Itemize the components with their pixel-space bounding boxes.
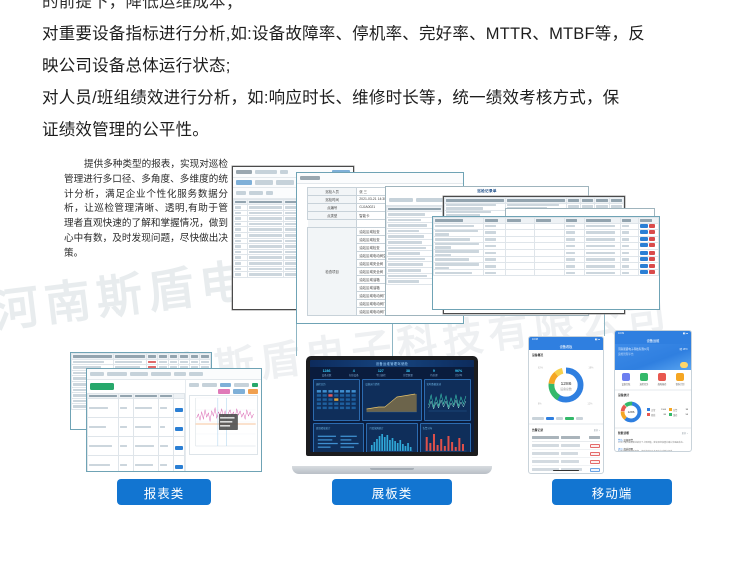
detail-sheet-title xyxy=(506,209,654,216)
card-calendar[interactable]: 巡检日历 xyxy=(313,379,360,421)
kpi-1: 4在线设备 xyxy=(349,369,359,377)
table-row xyxy=(434,249,659,256)
kpi-2: 127今日巡检 xyxy=(376,369,386,377)
kpi-0: 1286设备总数 xyxy=(322,369,332,377)
status-badge xyxy=(590,460,600,464)
dashboard-row-2: 班组绩效统计 月度故障统计 xyxy=(310,423,474,452)
phone1-nav-title: 设备看板 xyxy=(560,344,573,349)
laptop-trackpad-notch xyxy=(370,468,414,471)
phone2-diagnosis-section: 智能诊断 更多 > 警告 设备预警 1#压力变送器读数持续高于上限阈值，建议现场… xyxy=(615,429,691,452)
table-row xyxy=(88,456,185,472)
print-sheet-title: 巡检记录单 xyxy=(386,187,588,195)
diagnosis-item-1[interactable]: 提示 保养提醒 3#电动阀已达保养周期，请安排班组在本周内完成例行保养。 xyxy=(618,447,688,452)
phone1-overview-section: 设备概况 1286 设备总数 62%18% 8%12% xyxy=(529,350,603,423)
phone2-hero-banner: 河南斯盾电子科技有限公司 运维管理平台 晴 18℃ xyxy=(615,344,691,370)
table-row xyxy=(434,242,659,249)
field-key-3: 点类型 xyxy=(308,211,357,219)
phone2-legend-grid: 正常1106 告警38 离线84 维修58 xyxy=(647,408,688,417)
quick-action-repair[interactable]: 故障报修 xyxy=(658,373,667,386)
cta-button-report[interactable]: 报表类 xyxy=(117,479,211,505)
bar-chart xyxy=(369,431,414,452)
laptop-base xyxy=(292,466,492,474)
mobile-screen-board[interactable]: 10:08 ▮▮ ▰ 设备看板 设备概况 1286 设备总数 62%18% 8%… xyxy=(528,336,604,474)
table-row xyxy=(434,229,659,236)
kpi-5: 96%完好率 xyxy=(455,369,462,377)
sheet-toolbar xyxy=(297,173,463,184)
table-row xyxy=(88,399,185,418)
body-copy: 的前提下，降低运维成本； 对重要设备指标进行分析,如:设备故障率、停机率、完好率… xyxy=(42,0,732,146)
table-row xyxy=(88,437,185,456)
phone2-hero-title: 河南斯盾电子科技有限公司 xyxy=(618,347,688,351)
phone2-nav-bar: 设备运维 xyxy=(615,336,691,344)
copy-line-3: 对人员/班组绩效进行分析，如:响应时长、维修时长等，统一绩效考核方式，保 xyxy=(42,82,732,114)
copy-line-2: 映公司设备总体运行状态; xyxy=(42,50,732,82)
phone1-list-header xyxy=(532,434,600,442)
phone2-nav-title: 设备运维 xyxy=(647,338,660,343)
dashboard-title: 设备运维管理驾驶舱 xyxy=(376,361,408,366)
phone2-signal-icons: ▮▮ ▰ xyxy=(683,332,688,335)
phone2-hero-sub: 运维管理平台 xyxy=(618,352,688,356)
card-team-perf[interactable]: 班组绩效统计 xyxy=(313,423,364,452)
feature-paragraph: 提供多种类型的报表，实现对巡检管理进行多口径、多角度、多维度的统计分析，满足企业… xyxy=(64,158,228,262)
table-row xyxy=(434,263,659,270)
laptop-lid: 设备运维管理驾驶舱 1286设备总数 4在线设备 127今日巡检 38告警数量 … xyxy=(306,356,478,456)
field-key-1: 巡检时间 xyxy=(308,195,357,203)
phone2-stats-section: 设备统计 1286 正常1106 告警38 离线84 维修58 xyxy=(615,391,691,427)
field-key-2: 点编号 xyxy=(308,203,357,211)
grid-front-table xyxy=(433,217,659,276)
record-section-label: 检查项目 xyxy=(308,227,357,315)
phone1-more-link[interactable]: 更多 > xyxy=(594,428,600,432)
phone2-more-link[interactable]: 更多 > xyxy=(682,431,688,435)
phone1-signal-icons: ▮▮ ▰ xyxy=(595,338,600,341)
legend-bars xyxy=(316,431,361,452)
line-chart xyxy=(427,387,468,413)
copy-line-4: 证绩效管理的公平性。 xyxy=(42,114,732,146)
svg-text:12%: 12% xyxy=(587,402,593,405)
diagnosis-item-0[interactable]: 警告 设备预警 1#压力变送器读数持续高于上限阈值，建议现场核查并确认传感器状态… xyxy=(618,438,688,445)
phone2-time: 10:09 xyxy=(618,332,624,335)
list-item[interactable] xyxy=(532,450,600,458)
sun-icon xyxy=(680,362,688,368)
report-front-tabs xyxy=(87,369,261,380)
dashboard-row-1: 巡检日历 xyxy=(310,379,474,423)
table-row xyxy=(434,270,659,276)
cta-button-dashboard[interactable]: 展板类 xyxy=(332,479,452,505)
page-root: 的前提下，降低运维成本； 对重要设备指标进行分析,如:设备故障率、停机率、完好率… xyxy=(0,0,750,568)
alarm-bar-chart xyxy=(423,431,468,452)
phone2-section2-title: 智能诊断 xyxy=(618,431,629,435)
phone1-section1-title: 设备概况 xyxy=(532,353,600,357)
kpi-3: 38告警数量 xyxy=(403,369,413,377)
phone1-alarm-section: 告警记录 更多 > xyxy=(529,425,603,474)
svg-text:18%: 18% xyxy=(588,366,594,369)
svg-text:62%: 62% xyxy=(538,366,544,369)
chart-svg xyxy=(190,396,257,454)
status-badge xyxy=(590,452,600,456)
card-realtime[interactable]: 实时数据波动 xyxy=(424,379,471,421)
phone1-legend xyxy=(532,417,600,420)
phone1-section2-title: 告警记录 xyxy=(532,428,543,432)
kpi-4: 9待处理 xyxy=(430,369,437,377)
quick-action-maintenance[interactable]: 保养计划 xyxy=(676,373,685,386)
new-task-button[interactable] xyxy=(90,383,114,390)
area-chart xyxy=(365,387,418,413)
phone2-weather: 晴 18℃ xyxy=(680,347,688,351)
stats-donut-value: 1286 xyxy=(628,410,635,414)
card-trend[interactable]: 设备运行趋势 xyxy=(362,379,421,421)
status-badge xyxy=(590,444,600,448)
phone2-section1-title: 设备统计 xyxy=(618,393,688,397)
list-item[interactable] xyxy=(532,442,600,450)
card-fault-stats[interactable]: 月度故障统计 xyxy=(366,423,417,452)
donut-center-sub: 设备总数 xyxy=(560,386,572,391)
pressure-trend-chart[interactable] xyxy=(189,395,258,455)
copy-line-0: 的前提下，降低运维成本； xyxy=(42,0,732,18)
field-key-0: 巡检人员 xyxy=(308,187,357,195)
calendar-grid-icon xyxy=(316,387,357,413)
quick-action-inspection[interactable]: 巡检任务 xyxy=(640,373,649,386)
phone2-quick-actions: 设备台账 巡检任务 故障报修 保养计划 xyxy=(615,370,691,389)
phone1-time: 10:08 xyxy=(532,338,538,341)
dashboard-header: 设备运维管理驾驶舱 xyxy=(310,360,474,367)
dashboard-screen[interactable]: 设备运维管理驾驶舱 1286设备总数 4在线设备 127今日巡检 38告警数量 … xyxy=(310,360,474,452)
svg-text:8%: 8% xyxy=(538,402,542,405)
task-table xyxy=(87,393,185,473)
card-alarm-dist[interactable]: 告警分布 xyxy=(420,423,471,452)
device-donut-chart[interactable]: 1286 设备总数 62%18% 8%12% xyxy=(532,359,600,411)
status-badge xyxy=(590,468,600,472)
mobile-screen-home[interactable]: 10:09 ▮▮ ▰ 设备运维 河南斯盾电子科技有限公司 运维管理平台 晴 18… xyxy=(614,330,692,452)
report-screenshot-front[interactable] xyxy=(86,368,262,472)
table-row xyxy=(88,418,185,437)
copy-line-1: 对重要设备指标进行分析,如:设备故障率、停机率、完好率、MTTR、MTBF等，反 xyxy=(42,18,732,50)
dashboard-kpi-row: 1286设备总数 4在线设备 127今日巡检 38告警数量 9待处理 96%完好… xyxy=(310,367,474,379)
report-screenshot-grid-front[interactable] xyxy=(432,216,660,310)
phone1-nav-bar: 设备看板 xyxy=(529,342,603,350)
device-stats-donut[interactable]: 1286 xyxy=(618,399,644,425)
list-item[interactable] xyxy=(532,458,600,466)
paragraph-text: 提供多种类型的报表，实现对巡检管理进行多口径、多角度、多维度的统计分析，满足企业… xyxy=(64,159,228,259)
laptop-mockup: 设备运维管理驾驶舱 1286设备总数 4在线设备 127今日巡检 38告警数量 … xyxy=(292,356,492,474)
cta-button-mobile[interactable]: 移动端 xyxy=(552,479,672,505)
quick-action-ledger[interactable]: 设备台账 xyxy=(622,373,631,386)
